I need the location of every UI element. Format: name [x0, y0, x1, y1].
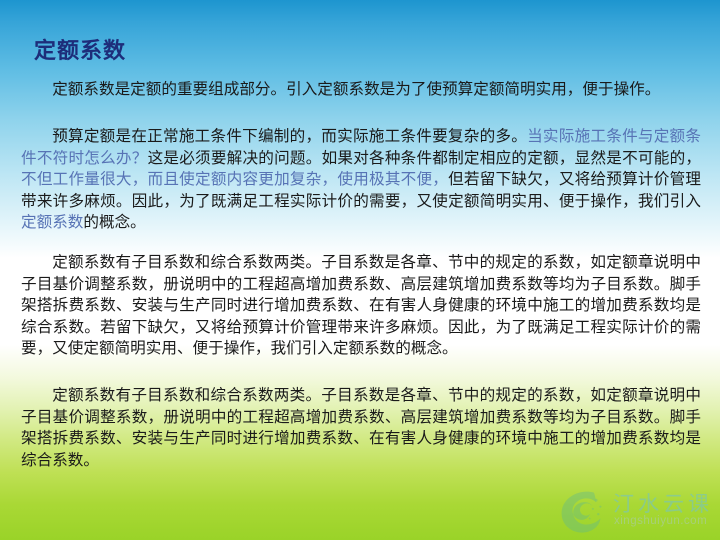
paragraph-block-4: 定额系数有子目系数和综合系数两类。子目系数是各章、节中的规定的系数，如定额章说明… [21, 385, 701, 471]
text-run-3: 不但工作量很大，而且使定额内容更加复杂，使用极其不便， [21, 171, 448, 188]
watermark-brand: 汀水云课 [613, 488, 713, 518]
text-run-0: 预算定额是在正常施工条件下编制的，而实际施工条件要复杂的多。 [52, 128, 527, 145]
paragraph-3: 定额系数有子目系数和综合系数两类。子目系数是各章、节中的规定的系数，如定额章说明… [21, 252, 701, 360]
paragraph-block-3: 定额系数有子目系数和综合系数两类。子目系数是各章、节中的规定的系数，如定额章说明… [21, 252, 701, 360]
text-run-5: 定额系数 [21, 214, 83, 231]
slide-title: 定额系数 [34, 33, 126, 65]
text-run-2: 这是必须要解决的问题。如果对各种条件都制定相应的定额，显然是不可能的， [148, 150, 701, 167]
paragraph-2: 预算定额是在正常施工条件下编制的，而实际施工条件要复杂的多。当实际施工条件与定额… [21, 126, 701, 234]
paragraph-block-1: 定额系数是定额的重要组成部分。引入定额系数是为了使预算定额简明实用，便于操作。 [21, 79, 701, 101]
paragraph-4: 定额系数有子目系数和综合系数两类。子目系数是各章、节中的规定的系数，如定额章说明… [21, 385, 701, 471]
watermark-url: xingshuiyun.com [614, 515, 707, 527]
slide-canvas: 定额系数 定额系数是定额的重要组成部分。引入定额系数是为了使预算定额简明实用，便… [0, 0, 720, 540]
text-run-6: 的概念。 [83, 214, 145, 231]
paragraph-block-2: 预算定额是在正常施工条件下编制的，而实际施工条件要复杂的多。当实际施工条件与定额… [21, 126, 701, 234]
text-run-0: 定额系数是定额的重要组成部分。引入定额系数是为了使预算定额简明实用，便于操作。 [52, 81, 660, 98]
text-run-0: 定额系数有子目系数和综合系数两类。子目系数是各章、节中的规定的系数，如定额章说明… [21, 387, 701, 469]
watermark: 汀水云课 xingshuiyun.com [553, 482, 720, 540]
text-run-0: 定额系数有子目系数和综合系数两类。子目系数是各章、节中的规定的系数，如定额章说明… [21, 254, 701, 357]
paragraph-1: 定额系数是定额的重要组成部分。引入定额系数是为了使预算定额简明实用，便于操作。 [21, 79, 701, 101]
wave-swirl-icon [553, 484, 609, 538]
